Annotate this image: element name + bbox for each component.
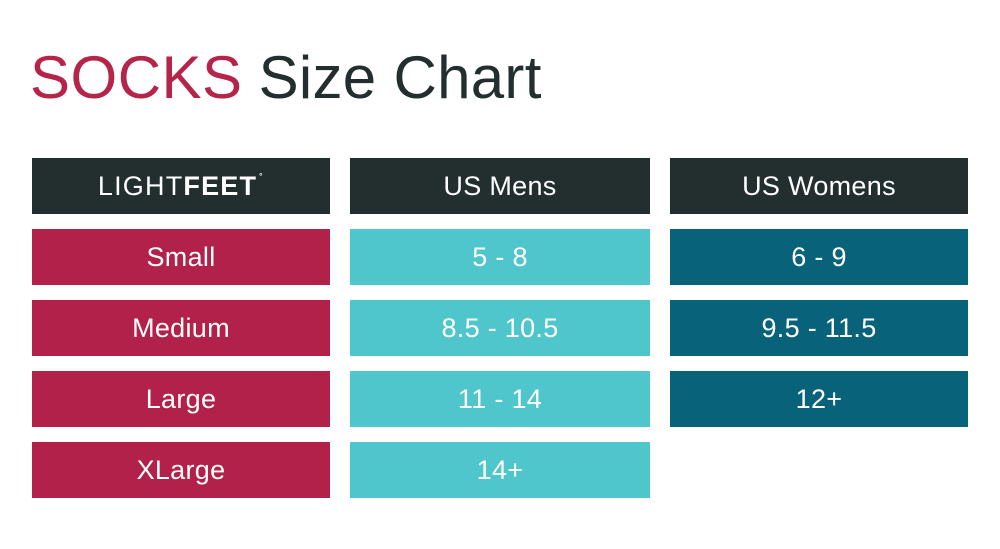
table-row-us-womens-value-empty bbox=[670, 442, 968, 498]
table-row-us-womens-value: 9.5 - 11.5 bbox=[670, 300, 968, 356]
column-header-brand: LIGHTFEET˚ bbox=[32, 158, 330, 214]
size-chart-page: SOCKS Size Chart LIGHTFEET˚ US Mens US W… bbox=[0, 0, 1000, 549]
page-title-highlight: SOCKS bbox=[30, 48, 243, 108]
size-chart-table: LIGHTFEET˚ US Mens US Womens Small 5 - 8… bbox=[32, 158, 968, 498]
table-row-size-label: Large bbox=[32, 371, 330, 427]
page-title-rest: Size Chart bbox=[259, 48, 542, 108]
table-row-us-mens-value: 11 - 14 bbox=[350, 371, 650, 427]
lightfeet-logo: LIGHTFEET˚ bbox=[98, 173, 264, 200]
column-header-us-womens: US Womens bbox=[670, 158, 968, 214]
table-row-us-mens-value: 14+ bbox=[350, 442, 650, 498]
table-row-size-label: Medium bbox=[32, 300, 330, 356]
table-row-us-mens-value: 5 - 8 bbox=[350, 229, 650, 285]
trademark-icon: ˚ bbox=[259, 174, 264, 185]
table-row-size-label: Small bbox=[32, 229, 330, 285]
brand-name-light: LIGHT bbox=[98, 173, 184, 200]
brand-name-feet: FEET bbox=[183, 173, 257, 200]
column-header-us-mens: US Mens bbox=[350, 158, 650, 214]
table-row-us-womens-value: 6 - 9 bbox=[670, 229, 968, 285]
table-row-us-mens-value: 8.5 - 10.5 bbox=[350, 300, 650, 356]
table-row-us-womens-value: 12+ bbox=[670, 371, 968, 427]
page-title: SOCKS Size Chart bbox=[30, 48, 542, 120]
table-row-size-label: XLarge bbox=[32, 442, 330, 498]
